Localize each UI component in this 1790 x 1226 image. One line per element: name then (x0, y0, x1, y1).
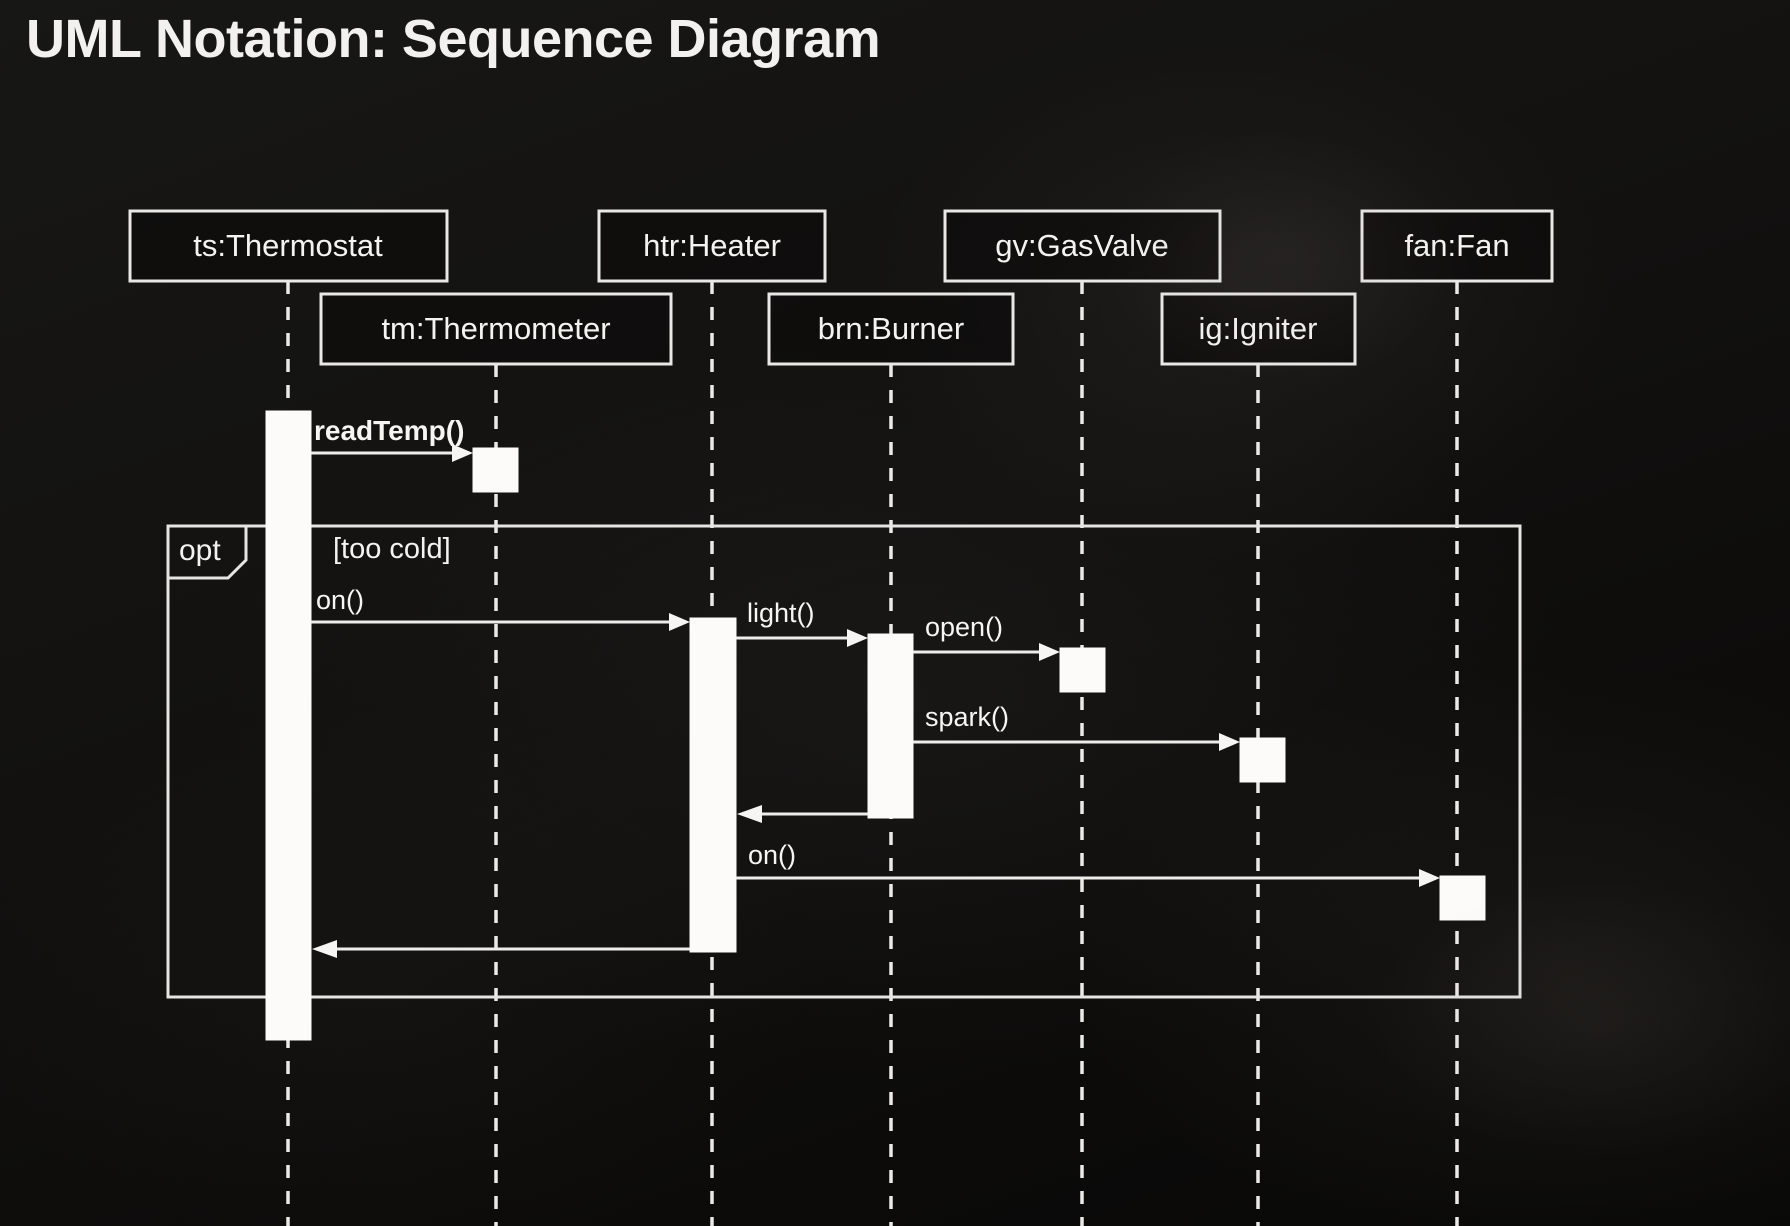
sequence-diagram: opt [too cold] readTemp() on() (0, 0, 1790, 1226)
activation-gv (1060, 648, 1105, 692)
participant-label: ig:Igniter (1199, 311, 1318, 346)
slide-canvas: UML Notation: Sequence Diagram opt [too … (0, 0, 1790, 1226)
message-readTemp: readTemp() (311, 415, 473, 462)
message-on-heater: on() (311, 585, 690, 631)
message-label: on() (316, 585, 364, 615)
message-light: light() (736, 598, 868, 647)
participant-htr[interactable]: htr:Heater (599, 211, 825, 281)
activations-group (266, 411, 1485, 1040)
participant-brn[interactable]: brn:Burner (769, 294, 1013, 364)
arrowhead-filled (1219, 733, 1240, 751)
activation-tm (473, 448, 518, 492)
participant-gv[interactable]: gv:GasValve (945, 211, 1220, 281)
arrowhead-filled (1419, 869, 1440, 887)
participant-label: ts:Thermostat (193, 228, 383, 263)
message-label: light() (747, 598, 815, 628)
participant-fan[interactable]: fan:Fan (1362, 211, 1552, 281)
participant-label: fan:Fan (1404, 228, 1509, 263)
message-return-heater (312, 940, 690, 958)
arrowhead-filled (1039, 643, 1060, 661)
message-label: open() (925, 612, 1003, 642)
activation-htr (690, 618, 736, 952)
message-on-fan: on() (736, 840, 1440, 887)
message-open: open() (913, 612, 1060, 661)
message-label: on() (748, 840, 796, 870)
fragment-guard-label: [too cold] (333, 533, 451, 565)
message-spark: spark() (913, 702, 1240, 751)
message-label: spark() (925, 702, 1009, 732)
fragment-border (168, 526, 1520, 997)
arrowhead-filled (669, 613, 690, 631)
arrowhead-filled (847, 629, 868, 647)
participant-label: htr:Heater (643, 228, 781, 263)
activation-ig (1240, 738, 1285, 782)
arrowhead-filled (452, 444, 473, 462)
participant-label: tm:Thermometer (381, 311, 610, 346)
activation-fan (1440, 876, 1485, 920)
arrowhead-open (737, 805, 762, 823)
participant-ts[interactable]: ts:Thermostat (130, 211, 447, 281)
activation-brn (868, 634, 913, 818)
arrowhead-open (312, 940, 337, 958)
participant-tm[interactable]: tm:Thermometer (321, 294, 671, 364)
message-return-burner (737, 805, 868, 823)
combined-fragment-opt: opt [too cold] (168, 526, 1520, 997)
message-label: readTemp() (314, 415, 464, 446)
participant-ig[interactable]: ig:Igniter (1162, 294, 1355, 364)
fragment-operator-label: opt (179, 534, 221, 567)
participant-label: brn:Burner (818, 311, 964, 346)
activation-ts (266, 411, 311, 1040)
participant-label: gv:GasValve (995, 228, 1168, 263)
